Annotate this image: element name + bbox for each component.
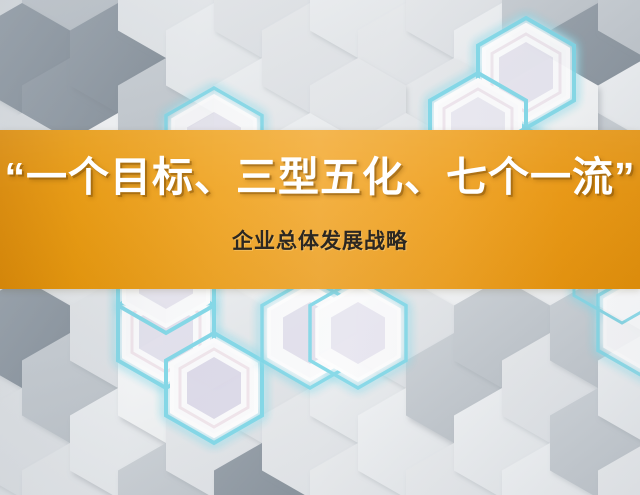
title-banner: “一个目标、三型五化、七个一流” 企业总体发展战略 <box>0 130 640 289</box>
slide-title: “一个目标、三型五化、七个一流” <box>0 157 640 198</box>
presentation-slide: “一个目标、三型五化、七个一流” 企业总体发展战略 <box>0 0 640 495</box>
slide-subtitle: 企业总体发展战略 <box>0 231 640 252</box>
